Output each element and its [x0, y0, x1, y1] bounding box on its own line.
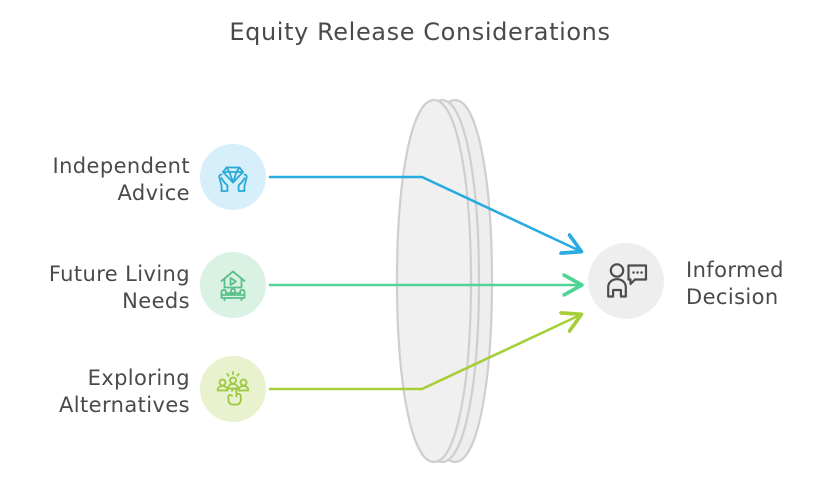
label-line-1: Future Living — [10, 261, 190, 288]
icon-badge-future-living-needs[interactable] — [200, 252, 266, 318]
label-line-1: Informed — [686, 257, 840, 284]
label-line-2: Alternatives — [10, 392, 190, 419]
label-line-2: Advice — [10, 180, 190, 207]
diagram-canvas: Equity Release Considerations — [0, 0, 840, 482]
label-line-1: Independent — [10, 153, 190, 180]
label-line-2: Decision — [686, 284, 840, 311]
label-future-living-needs: Future Living Needs — [10, 261, 190, 315]
label-informed-decision: Informed Decision — [686, 257, 840, 311]
label-line-2: Needs — [10, 288, 190, 315]
person-with-speech-bubble-icon — [602, 257, 650, 305]
diamond-in-hands-icon — [213, 157, 253, 197]
page-title: Equity Release Considerations — [0, 18, 840, 46]
label-line-1: Exploring — [10, 365, 190, 392]
icon-badge-independent-advice[interactable] — [200, 144, 266, 210]
label-independent-advice: Independent Advice — [10, 153, 190, 207]
people-with-pointing-hand-icon — [213, 369, 253, 409]
connector-independent-advice — [270, 177, 578, 250]
stacked-disc-lens — [397, 100, 492, 462]
icon-badge-informed-decision[interactable] — [588, 243, 664, 319]
house-with-sofa-icon — [213, 265, 253, 305]
connector-exploring-alternatives — [270, 316, 578, 389]
icon-badge-exploring-alternatives[interactable] — [200, 356, 266, 422]
label-exploring-alternatives: Exploring Alternatives — [10, 365, 190, 419]
